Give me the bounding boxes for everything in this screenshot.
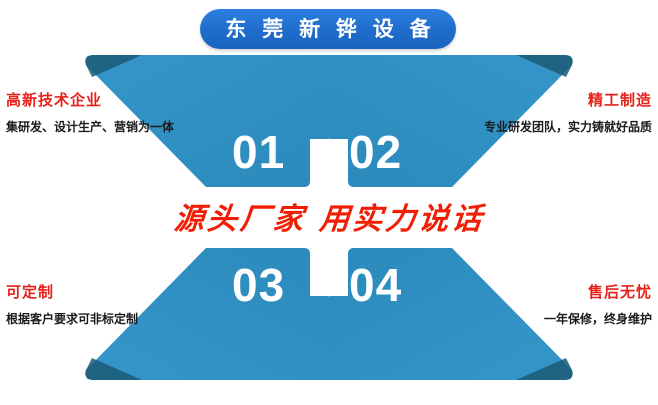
feature-block-02: 精工制造 专业研发团队，实力铸就好品质	[432, 92, 652, 135]
step-number-01: 01	[232, 129, 285, 175]
company-title-text: 东 莞 新 铧 设 备	[220, 19, 435, 40]
feature-block-01: 高新技术企业 集研发、设计生产、营销为一体	[6, 92, 226, 135]
feature-heading-01: 高新技术企业	[6, 92, 226, 111]
feature-heading-04: 售后无忧	[432, 284, 652, 303]
step-number-04: 04	[349, 262, 402, 308]
feature-heading-03: 可定制	[6, 284, 226, 303]
step-number-03: 03	[232, 262, 285, 308]
feature-heading-02: 精工制造	[432, 92, 652, 111]
center-slogan-text: 源头厂家 用实力说话	[172, 205, 485, 235]
step-number-02: 02	[349, 129, 402, 175]
feature-subtitle-03: 根据客户要求可非标定制	[6, 312, 226, 327]
center-slogan: 源头厂家 用实力说话	[0, 205, 658, 235]
feature-subtitle-04: 一年保修，终身维护	[432, 312, 652, 327]
promo-banner: 东 莞 新 铧 设 备	[0, 0, 658, 405]
feature-subtitle-01: 集研发、设计生产、营销为一体	[6, 120, 226, 135]
feature-subtitle-02: 专业研发团队，实力铸就好品质	[432, 120, 652, 135]
company-title-pill: 东 莞 新 铧 设 备	[200, 9, 456, 49]
feature-block-04: 售后无忧 一年保修，终身维护	[432, 284, 652, 327]
feature-block-03: 可定制 根据客户要求可非标定制	[6, 284, 226, 327]
